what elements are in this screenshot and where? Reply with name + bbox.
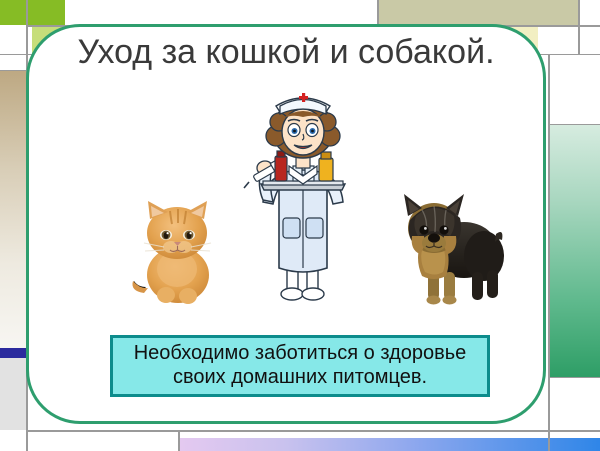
deco-block-top-right-khaki: [378, 0, 580, 25]
deco-bar-left-tan: [0, 70, 26, 348]
deco-block-navy: [0, 348, 26, 358]
caption-box: Необходимо заботиться о здоровье своих д…: [110, 335, 490, 397]
deco-rule-vertical-2: [377, 0, 379, 25]
deco-bar-bottom-gradient: [180, 438, 600, 451]
deco-rule-horizontal-3: [26, 430, 600, 432]
dog-photo: [392, 188, 506, 308]
deco-block-bottom-left-gray: [0, 358, 26, 430]
deco-bar-right-green: [549, 124, 600, 377]
deco-rule-vertical-5: [178, 430, 180, 451]
slide-canvas: Уход за кошкой и собакой.: [0, 0, 600, 451]
deco-block-top-left-green: [0, 0, 65, 25]
caption-line-2: своих домашних питомцев.: [173, 366, 427, 390]
nurse-illustration: [243, 78, 363, 310]
deco-rule-horizontal-4: [549, 124, 600, 125]
deco-rule-horizontal-6: [0, 70, 26, 71]
caption-line-1: Необходимо заботиться о здоровье: [134, 342, 467, 366]
deco-rule-horizontal-5: [549, 377, 600, 378]
deco-rule-vertical-3: [578, 0, 580, 55]
deco-rule-vertical-4: [548, 55, 550, 451]
cat-photo: [128, 195, 224, 307]
page-title: Уход за кошкой и собакой.: [26, 33, 546, 72]
